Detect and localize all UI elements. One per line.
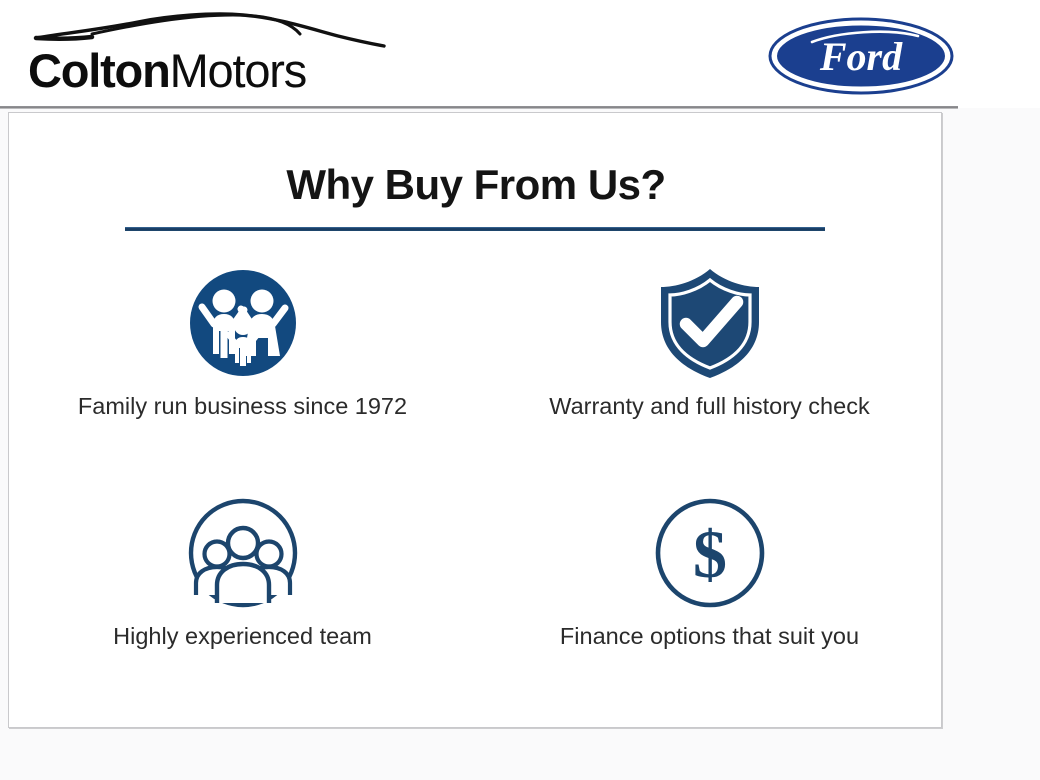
feature-label: Family run business since 1972 <box>73 391 413 422</box>
page-header: ColtonMotors Ford <box>0 0 1040 108</box>
why-buy-card: Why Buy From Us? <box>8 112 942 728</box>
feature-label: Finance options that suit you <box>545 621 875 652</box>
feature-item-team: Highly experienced team <box>9 483 476 713</box>
colton-motors-logo: ColtonMotors <box>28 8 388 100</box>
brand-wordmark: ColtonMotors <box>28 42 306 100</box>
feature-item-warranty: Warranty and full history check <box>476 253 943 483</box>
brand-name-light: Motors <box>170 44 306 97</box>
title-divider <box>125 227 825 231</box>
feature-label: Highly experienced team <box>73 621 413 652</box>
feature-item-family: Family run business since 1972 <box>9 253 476 483</box>
team-group-icon <box>183 497 303 609</box>
page-title: Why Buy From Us? <box>9 161 943 209</box>
brand-name-bold: Colton <box>28 44 170 97</box>
svg-text:$: $ <box>693 516 727 592</box>
feature-item-finance: $ Finance options that suit you <box>476 483 943 713</box>
family-icon <box>183 267 303 379</box>
ford-wordmark: Ford <box>819 34 903 79</box>
feature-label: Warranty and full history check <box>545 391 875 422</box>
ford-oval-logo: Ford <box>768 16 954 96</box>
dollar-circle-icon: $ <box>650 497 770 609</box>
shield-check-icon <box>650 267 770 379</box>
feature-grid: Family run business since 1972 Warranty … <box>9 253 943 713</box>
header-divider <box>0 106 958 109</box>
